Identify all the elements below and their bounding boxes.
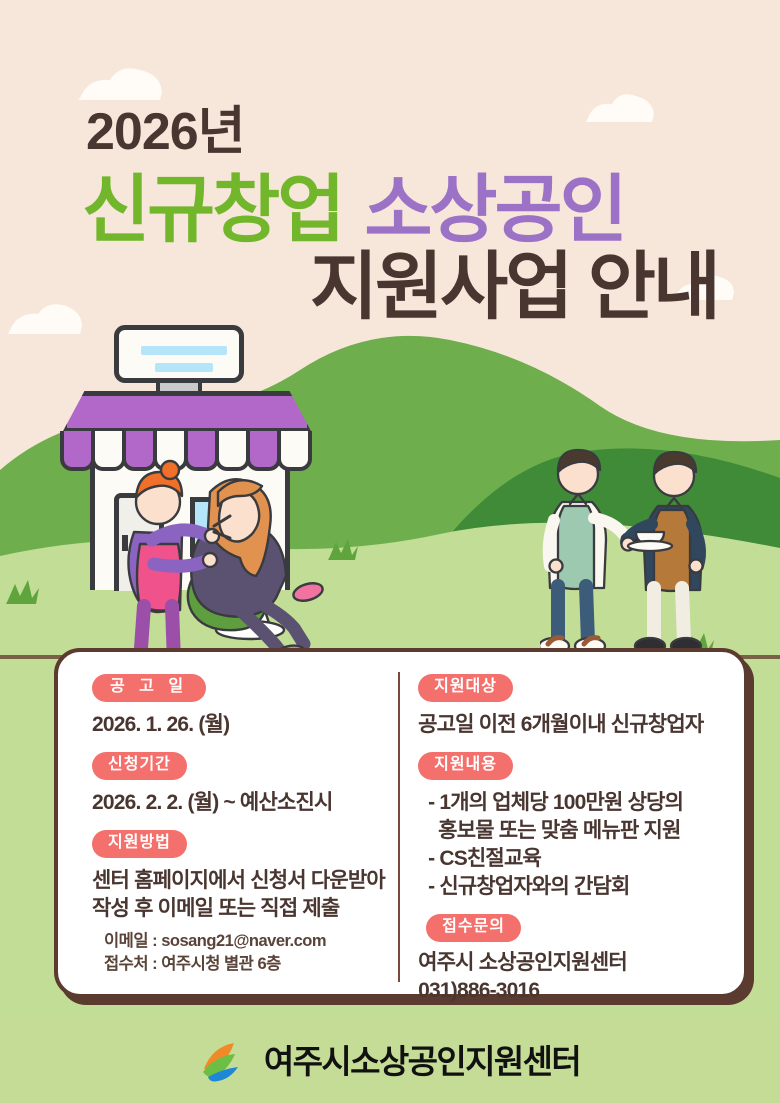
client-shoe-1 [291, 580, 324, 604]
poster-root: 2026년 신규창업소상공인 지원사업 안내 [0, 0, 780, 1103]
notice-date-value: 2026. 1. 26. (월) [92, 711, 386, 739]
info-group-support-content: 지원내용 - 1개의 업체당 100만원 상당의 홍보물 또는 맞춤 메뉴판 지… [418, 752, 744, 901]
shop-signboard [114, 325, 244, 383]
poster-title: 2026년 신규창업소상공인 지원사업 안내 [0, 108, 780, 322]
yeoju-swoosh-logo-icon [200, 1039, 252, 1083]
info-group-contact: 접수문의 여주시 소상공인지원센터 031)886-3016 [418, 914, 744, 1005]
footer-logo: 여주시소상공인지원센터 [0, 1033, 780, 1089]
barista-figures [540, 440, 740, 666]
contact-center-name: 여주시 소상공인지원센터 [418, 949, 744, 977]
application-office: 접수처 : 여주시청 별관 6층 [92, 953, 386, 976]
info-group-application-method: 지원방법 센터 홈페이지에서 신청서 다운받아 작성 후 이메일 또는 직접 제… [92, 830, 386, 977]
contact-phone: 031)886-3016 [418, 977, 744, 1005]
badge-support-content: 지원내용 [418, 752, 513, 780]
sign-bar-top [141, 346, 227, 355]
title-line-3: 지원사업 안내 [0, 251, 780, 322]
support-target-value: 공고일 이전 6개월이내 신규창업자 [418, 711, 744, 739]
support-content-item-1: - 1개의 업체당 100만원 상당의 [418, 789, 744, 817]
application-period-value: 2026. 2. 2. (월) ~ 예산소진시 [92, 789, 386, 817]
support-content-item-1-cont: 홍보물 또는 맞춤 메뉴판 지원 [418, 817, 744, 845]
hairdresser-and-client-figures [118, 440, 338, 670]
application-method-line-1: 센터 홈페이지에서 신청서 다운받아 [92, 867, 386, 895]
title-green-text: 신규창업 [82, 168, 342, 251]
title-year: 2026년 [0, 108, 780, 158]
support-content-item-2: - CS친절교육 [418, 845, 744, 873]
barista-mint [540, 450, 646, 654]
info-group-application-period: 신청기간 2026. 2. 2. (월) ~ 예산소진시 [92, 752, 386, 817]
badge-application-method: 지원방법 [92, 830, 187, 858]
badge-notice-date: 공 고 일 [92, 674, 206, 702]
support-content-item-3: - 신규창업자와의 간담회 [418, 873, 744, 901]
info-group-notice-date: 공 고 일 2026. 1. 26. (월) [92, 674, 386, 739]
info-card-right-column: 지원대상 공고일 이전 6개월이내 신규창업자 지원내용 - 1개의 업체당 1… [386, 652, 744, 994]
shop-awning-top [62, 391, 312, 433]
application-email: 이메일 : sosang21@naver.com [92, 930, 386, 953]
title-line-2: 신규창업소상공인 [0, 174, 780, 245]
badge-application-period: 신청기간 [92, 752, 187, 780]
hairdresser-bun [161, 461, 179, 479]
footer-logo-text: 여주시소상공인지원센터 [264, 1045, 580, 1078]
info-card-left-column: 공 고 일 2026. 1. 26. (월) 신청기간 2026. 2. 2. … [58, 652, 386, 994]
badge-support-target: 지원대상 [418, 674, 513, 702]
info-card: 공 고 일 2026. 1. 26. (월) 신청기간 2026. 2. 2. … [54, 648, 748, 998]
application-method-line-2: 작성 후 이메일 또는 직접 제출 [92, 895, 386, 923]
info-group-target: 지원대상 공고일 이전 6개월이내 신규창업자 [418, 674, 744, 739]
badge-contact: 접수문의 [426, 914, 521, 942]
title-purple-text: 소상공인 [364, 168, 624, 251]
barista-brown [622, 452, 703, 654]
card-divider [398, 672, 400, 982]
sign-bar-bottom [155, 363, 213, 372]
